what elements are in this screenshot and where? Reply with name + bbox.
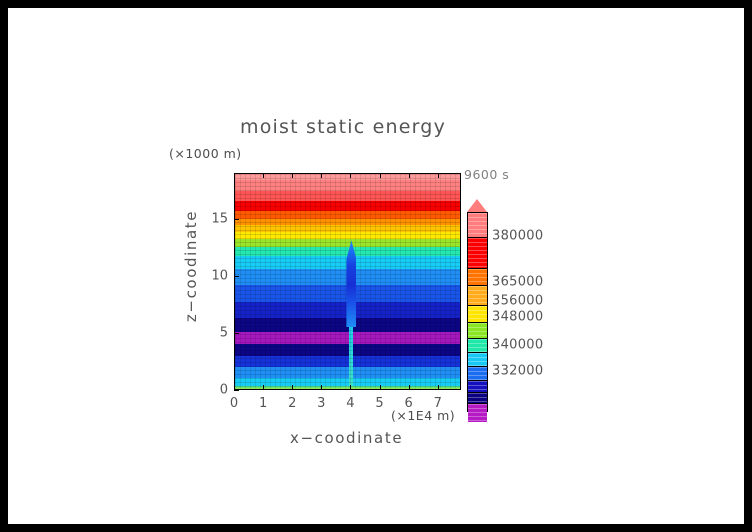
colorbar-label: 356000: [492, 294, 543, 309]
x-axis-title: x−coodinate: [290, 429, 403, 447]
colorbar-band: [468, 268, 487, 285]
colorbar-label: 348000: [492, 310, 543, 325]
colorbar-band: [468, 338, 487, 352]
colorbar-band: [468, 322, 487, 338]
heatmap-plot-area: [234, 173, 461, 390]
y-tick: [234, 219, 239, 220]
colorbar-band: [468, 213, 487, 237]
y-axis-unit-label: (×1000 m): [169, 146, 242, 161]
colorbar-band: [468, 305, 487, 322]
x-tick-top: [438, 173, 439, 178]
heatmap-layer: [235, 285, 460, 302]
x-tick-label: 0: [230, 396, 238, 411]
x-tick-top: [409, 173, 410, 178]
colorbar-band: [468, 392, 487, 403]
plume-core: [349, 320, 353, 386]
colorbar-label: 332000: [492, 364, 543, 379]
heatmap-layer: [235, 219, 460, 226]
heatmap-layer: [235, 247, 460, 256]
x-tick: [409, 385, 410, 390]
x-axis-unit-label: (×1E4 m): [391, 408, 455, 423]
x-tick: [321, 385, 322, 390]
time-annotation: 9600 s: [464, 167, 509, 182]
heatmap-layer: [235, 225, 460, 232]
heatmap-layer: [235, 318, 460, 332]
colorbar-band: [468, 366, 487, 380]
y-axis-title: z−coodinate: [182, 210, 200, 322]
heatmap-layer: [235, 191, 460, 201]
x-tick-label: 2: [288, 396, 296, 411]
figure-canvas: moist static energy (×1000 m) (×1E4 m) 9…: [8, 8, 744, 524]
heatmap-layer: [235, 389, 460, 390]
x-tick-label: 5: [375, 396, 383, 411]
x-tick-label: 4: [346, 396, 354, 411]
heatmap-layer: [235, 211, 460, 219]
x-tick-label: 3: [317, 396, 325, 411]
heatmap-layer: [235, 232, 460, 239]
y-tick-label: 0: [210, 383, 228, 398]
y-tick: [234, 333, 239, 334]
x-tick-top: [380, 173, 381, 178]
heatmap-layer: [235, 356, 460, 367]
surface-layer: [235, 386, 460, 390]
heatmap-layer: [235, 174, 460, 180]
colorbar-band: [468, 380, 487, 392]
colorbar-label: 340000: [492, 338, 543, 353]
heatmap-layer: [235, 378, 460, 386]
x-tick-label: 1: [259, 396, 267, 411]
x-tick: [292, 385, 293, 390]
colorbar-label: 380000: [492, 229, 543, 244]
x-tick-top: [321, 173, 322, 178]
heatmap-layer: [235, 239, 460, 246]
heatmap-layer: [235, 269, 460, 286]
y-tick-label: 15: [210, 211, 228, 226]
x-tick: [350, 385, 351, 390]
y-tick: [234, 276, 239, 277]
x-tick-top: [350, 173, 351, 178]
heatmap-layer: [235, 344, 460, 355]
x-tick: [380, 385, 381, 390]
heatmap-layer: [235, 201, 460, 210]
colorbar-label: 365000: [492, 275, 543, 290]
x-tick: [438, 385, 439, 390]
heatmap-layer: [235, 332, 460, 345]
x-tick-top: [234, 173, 235, 178]
colorbar: [467, 212, 488, 412]
heatmap-layer: [235, 302, 460, 317]
y-tick: [234, 390, 239, 391]
chart-title: moist static energy: [240, 116, 446, 138]
y-tick-label: 5: [210, 325, 228, 340]
colorbar-band: [468, 285, 487, 305]
heatmap-layer: [235, 180, 460, 191]
x-tick-top: [292, 173, 293, 178]
x-tick: [263, 385, 264, 390]
x-tick-top: [263, 173, 264, 178]
colorbar-arrow-icon: [467, 199, 487, 212]
heatmap-layer: [235, 367, 460, 378]
x-tick-label: 7: [434, 396, 442, 411]
colorbar-band: [468, 237, 487, 268]
colorbar-band: [468, 352, 487, 366]
y-tick-label: 10: [210, 268, 228, 283]
x-tick-label: 6: [404, 396, 412, 411]
heatmap-layer: [235, 256, 460, 269]
colorbar-band: [468, 403, 487, 422]
